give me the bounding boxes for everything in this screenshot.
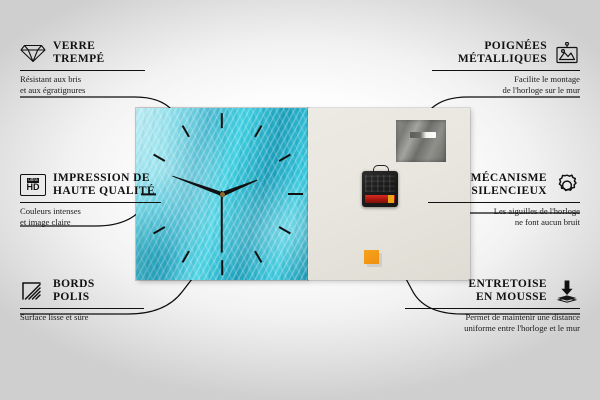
feature-divider xyxy=(428,202,580,203)
clock-center-cap xyxy=(220,192,225,197)
feature-title: VERRE TREMPÉ xyxy=(53,40,105,66)
hanger-slot xyxy=(410,132,436,138)
feature-verre-trempe: VERRE TREMPÉ Résistant aux bris et aux é… xyxy=(20,40,210,95)
feature-title: MÉCANISME SILENCIEUX xyxy=(471,172,547,198)
clock-tick xyxy=(221,113,223,128)
feature-mecanisme-silencieux: MÉCANISME SILENCIEUX Les aiguilles de l'… xyxy=(390,172,580,227)
hd-badge: ultra HD xyxy=(20,174,46,196)
feature-entretoise-en-mousse: ENTRETOISE EN MOUSSE Permet de maintenir… xyxy=(370,278,580,333)
feature-description: Surface lisse et sûre xyxy=(20,312,210,323)
feature-header: POIGNÉES MÉTALLIQUES xyxy=(390,40,580,66)
feature-header: ultra HD IMPRESSION DE HAUTE QUALITÉ xyxy=(20,172,215,198)
infographic-canvas: VERRE TREMPÉ Résistant aux bris et aux é… xyxy=(0,0,600,400)
clock-tick xyxy=(288,193,303,195)
feature-bords-polis: BORDS POLIS Surface lisse et sûre xyxy=(20,278,210,323)
feature-poignees-metalliques: POIGNÉES MÉTALLIQUES Facilite le montage… xyxy=(390,40,580,95)
feature-header: BORDS POLIS xyxy=(20,278,210,304)
polished-edges-icon xyxy=(20,279,46,303)
feature-description: Facilite le montage de l'horloge sur le … xyxy=(390,74,580,95)
feature-title: POIGNÉES MÉTALLIQUES xyxy=(458,40,547,66)
feature-divider xyxy=(20,202,161,203)
feature-title: IMPRESSION DE HAUTE QUALITÉ xyxy=(53,172,155,198)
wall-mount-icon xyxy=(554,41,580,65)
feature-divider xyxy=(20,70,145,71)
feature-title: ENTRETOISE EN MOUSSE xyxy=(468,278,547,304)
clock-tick xyxy=(221,260,223,275)
feature-header: VERRE TREMPÉ xyxy=(20,40,210,66)
feature-divider xyxy=(432,70,580,71)
mechanism-hanging-loop xyxy=(373,165,389,175)
clock-second-hand xyxy=(221,191,223,253)
feature-header: ENTRETOISE EN MOUSSE xyxy=(370,278,580,304)
gear-icon xyxy=(554,173,580,197)
feature-impression-haute-qualite: ultra HD IMPRESSION DE HAUTE QUALITÉ Cou… xyxy=(20,172,215,227)
feature-divider xyxy=(405,308,580,309)
feature-title: BORDS POLIS xyxy=(53,278,95,304)
feature-divider xyxy=(20,308,144,309)
feature-description: Permet de maintenir une distance uniform… xyxy=(370,312,580,333)
ultra-hd-icon: ultra HD xyxy=(20,173,46,197)
diamond-icon xyxy=(20,41,46,65)
feature-header: MÉCANISME SILENCIEUX xyxy=(390,172,580,198)
hd-label: HD xyxy=(27,183,40,192)
feature-description: Les aiguilles de l'horloge ne font aucun… xyxy=(390,206,580,227)
feature-description: Couleurs intenses et image claire xyxy=(20,206,215,227)
metal-hanger-plate xyxy=(396,120,446,162)
feature-description: Résistant aux bris et aux égratignures xyxy=(20,74,210,95)
foam-spacer xyxy=(364,250,379,264)
foam-spacer-icon xyxy=(554,279,580,303)
